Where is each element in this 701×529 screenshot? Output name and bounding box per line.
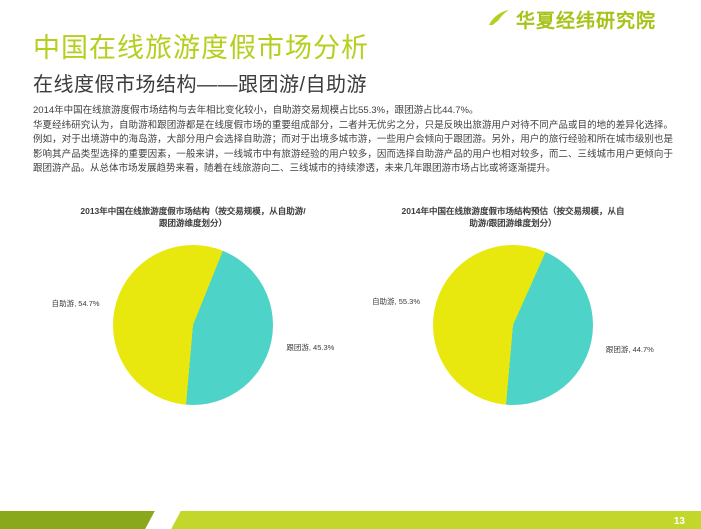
paragraph-1: 2014年中国在线旅游度假市场结构与去年相比变化较小，自助游交易规模占比55.3… bbox=[33, 104, 673, 119]
brand-logo: 华夏经纬研究院 bbox=[488, 6, 656, 33]
page-title: 中国在线旅游度假市场分析 bbox=[33, 26, 369, 65]
brand-name: 华夏经纬研究院 bbox=[516, 6, 656, 33]
pie-2014 bbox=[433, 245, 593, 405]
chart-title-2014: 2014年中国在线旅游度假市场结构预估（按交易规模，从自助游/跟团游维度划分） bbox=[398, 205, 628, 229]
pie-holder-2014: 自助游, 55.3% 跟团游, 44.7% bbox=[353, 241, 673, 441]
footer-bar: 13 bbox=[0, 499, 701, 529]
pie-2013 bbox=[113, 245, 273, 405]
pie-chart-2013: 2013年中国在线旅游度假市场结构（按交易规模，从自助游/跟团游维度划分） 自助… bbox=[33, 205, 353, 455]
chart-title-2013: 2013年中国在线旅游度假市场结构（按交易规模，从自助游/跟团游维度划分） bbox=[78, 205, 308, 229]
charts-container: 2013年中国在线旅游度假市场结构（按交易规模，从自助游/跟团游维度划分） 自助… bbox=[33, 205, 673, 455]
body-copy: 2014年中国在线旅游度假市场结构与去年相比变化较小，自助游交易规模占比55.3… bbox=[33, 104, 673, 177]
pie-slice-label-gentuanyou-2013: 跟团游, 45.3% bbox=[286, 342, 334, 353]
page-subtitle: 在线度假市场结构——跟团游/自助游 bbox=[33, 68, 367, 97]
page-number: 13 bbox=[674, 516, 685, 527]
pie-slice-label-zizhuyou-2013: 自助游, 54.7% bbox=[52, 298, 100, 309]
paragraph-2: 华夏经纬研究认为，自助游和跟团游都是在线度假市场的重要组成部分，二者并无优劣之分… bbox=[33, 119, 673, 177]
pie-holder-2013: 自助游, 54.7% 跟团游, 45.3% bbox=[33, 241, 353, 441]
pie-slice-label-gentuanyou-2014: 跟团游, 44.7% bbox=[606, 344, 654, 355]
pie-slice-label-zizhuyou-2014: 自助游, 55.3% bbox=[372, 296, 420, 307]
leaf-swoosh-icon bbox=[488, 9, 510, 31]
pie-chart-2014: 2014年中国在线旅游度假市场结构预估（按交易规模，从自助游/跟团游维度划分） … bbox=[353, 205, 673, 455]
